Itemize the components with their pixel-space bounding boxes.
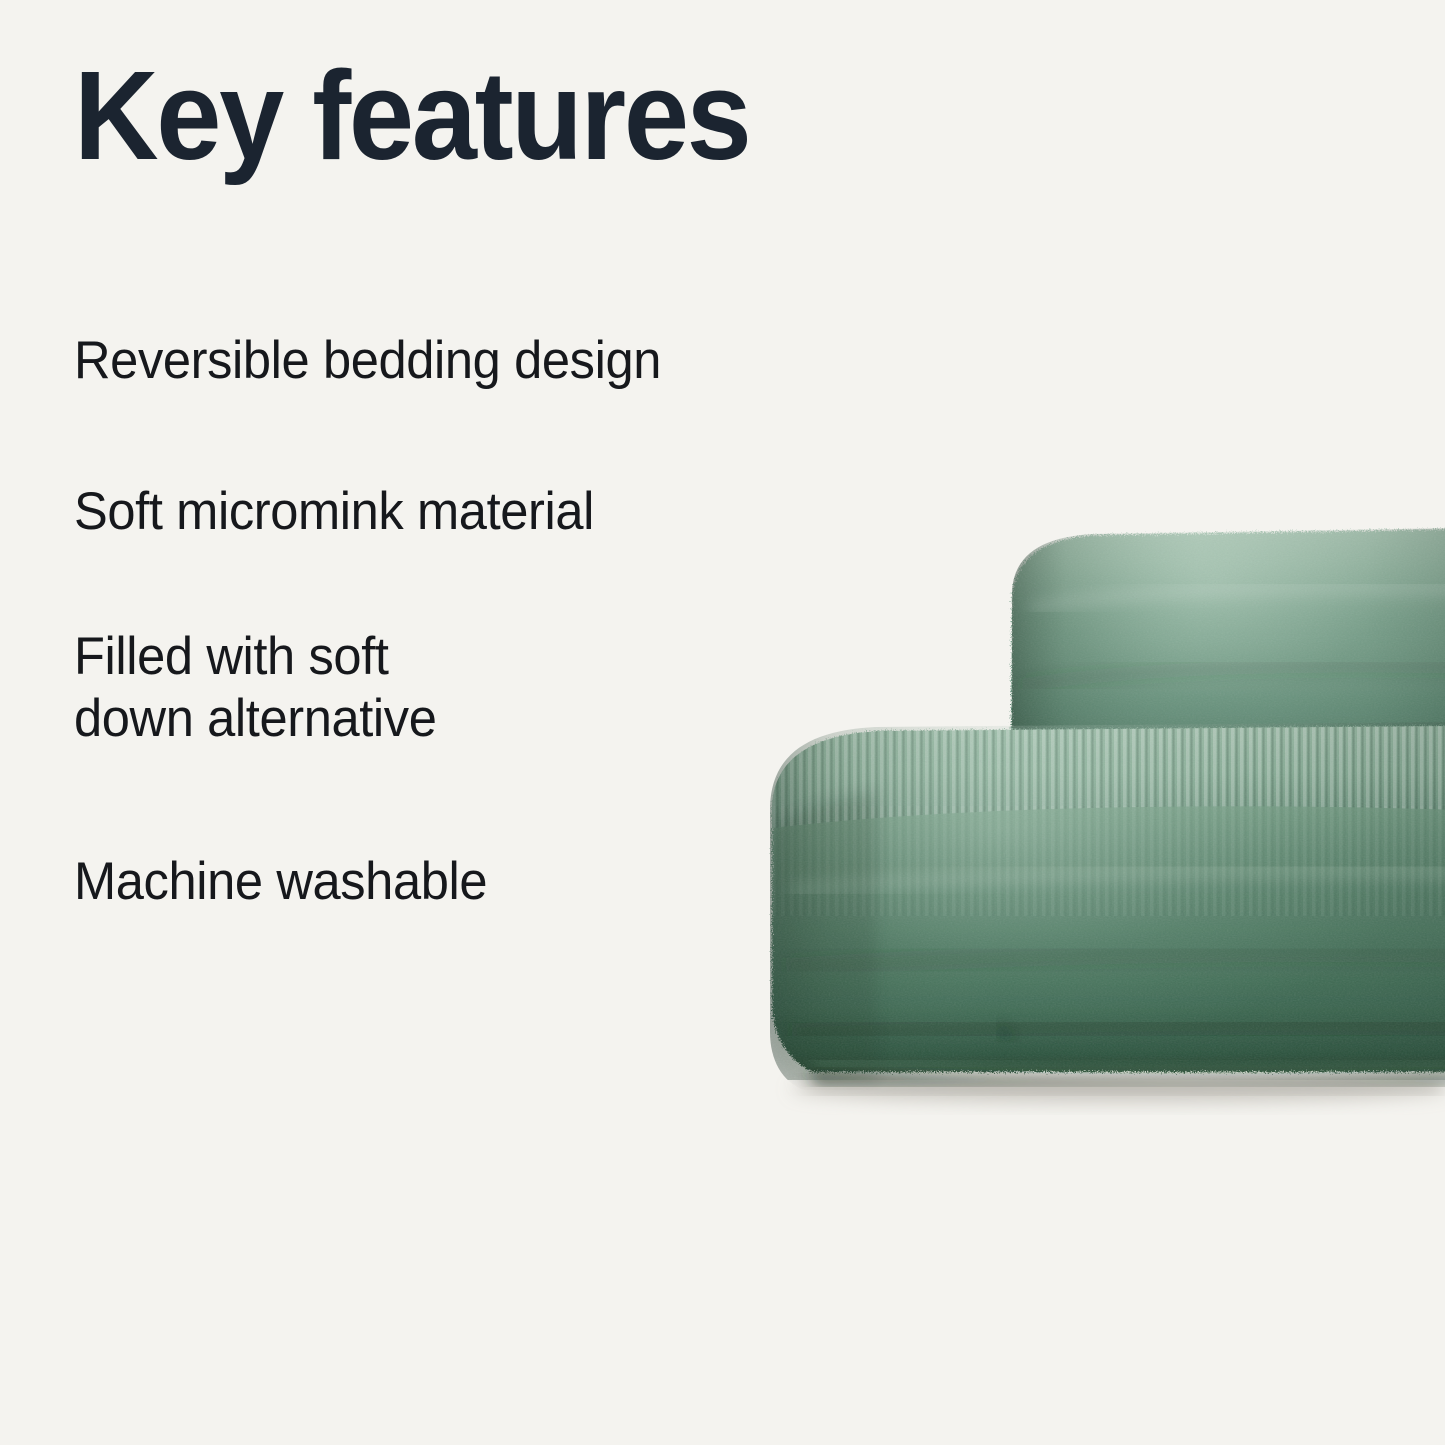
key-features-panel: Key features Reversible bedding design S… bbox=[0, 0, 1445, 1445]
page-title: Key features bbox=[74, 52, 750, 181]
folded-blanket-stack-image bbox=[700, 290, 1445, 1120]
feature-item-reversible-bedding-design: Reversible bedding design bbox=[74, 330, 661, 392]
feature-item-machine-washable: Machine washable bbox=[74, 851, 487, 913]
blanket-bottom-fold bbox=[760, 720, 1445, 1084]
feature-item-soft-micromink-material: Soft micromink material bbox=[74, 481, 594, 543]
feature-item-filled-with-soft-down-alternative: Filled with soft down alternative bbox=[74, 626, 436, 750]
